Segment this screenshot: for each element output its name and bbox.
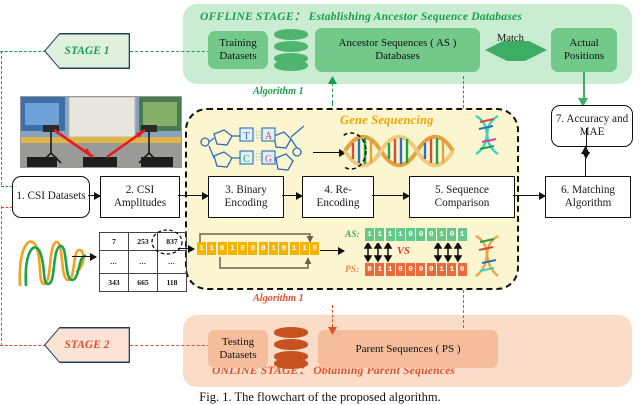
bit-cell: 0 [365, 263, 374, 276]
step-box-accuracy-mae[interactable]: 7. Accuracy and MAE [551, 105, 633, 147]
algorithm1-dash-up [332, 83, 333, 103]
figure-caption: Fig. 1. The flowchart of the proposed al… [0, 390, 640, 405]
match-double-arrow-icon [482, 41, 550, 61]
arrow-table-to-binary [178, 248, 194, 249]
stage2-dash-up [1, 206, 2, 346]
bit-cell: 0 [447, 228, 456, 241]
step-box-matching-algorithm[interactable]: 6. Matching Algorithm [545, 176, 631, 218]
parent-dash-down [332, 305, 333, 327]
parent-sequences-arrow-down-icon [328, 325, 338, 335]
dna-base-pair-diagram: T A C G [196, 122, 311, 174]
training-datasets-box[interactable]: Training Datasets [208, 31, 268, 69]
bit-cell: 1 [458, 228, 467, 241]
bit-cell: 0 [406, 263, 415, 276]
step-box-re-encoding[interactable]: 4. Re-Encoding [302, 176, 374, 218]
stage-2-tag[interactable]: STAGE 2 [44, 327, 130, 363]
bit-cell: 0 [406, 228, 415, 241]
stage-2-tag-label: STAGE 2 [44, 327, 130, 363]
algorithm1-arrow-up-icon [328, 76, 338, 86]
step-box-csi-amplitudes[interactable]: 2. CSI Amplitudes [100, 176, 180, 218]
reencoding-bracket-icons [196, 228, 316, 274]
step-box-sequence-comparison[interactable]: 5. Sequence Comparison [409, 176, 515, 218]
svg-text:T: T [243, 131, 249, 142]
arrow-b2-b3 [178, 195, 208, 196]
table-cell: 343 [100, 274, 129, 292]
table-cell: … [100, 251, 129, 274]
arrow-b4-b5 [372, 195, 409, 196]
actual-positions-box[interactable]: Actual Positions [551, 28, 617, 72]
stage-1-tag-label: STAGE 1 [44, 33, 130, 69]
algorithm-1-label-offline: Algorithm 1 [253, 86, 304, 97]
as-label: AS: [345, 230, 360, 240]
bit-cell: 1 [447, 263, 456, 276]
bit-cell: 1 [386, 263, 395, 276]
bit-cell: 1 [375, 228, 384, 241]
ps-sequence-strip: 0 1 1 0 0 0 0 1 1 0 [365, 263, 467, 276]
dna-strand-icon-top [468, 112, 510, 168]
step-box-csi-datasets[interactable]: 1. CSI Datasets [12, 176, 90, 218]
table-row: 343 665 118 [100, 274, 187, 292]
highlight-circle-icon [150, 228, 184, 256]
database-cylinder-icon [274, 327, 308, 369]
bit-cell: 0 [458, 263, 467, 276]
bit-cell: 1 [386, 228, 395, 241]
stage2-dash-right [130, 345, 210, 346]
bit-cell: 0 [416, 228, 425, 241]
database-cylinder-icon [274, 29, 308, 71]
csi-amplitude-waveform [14, 228, 90, 290]
svg-text:G: G [265, 154, 272, 165]
stage-1-tag[interactable]: STAGE 1 [44, 33, 130, 69]
table-cell: 665 [129, 274, 158, 292]
svg-text:C: C [243, 154, 250, 165]
ancestor-sequences-db-box[interactable]: Ancestor Sequences ( AS ) Databases [315, 28, 480, 72]
table-cell: 7 [100, 233, 129, 251]
bit-cell: 0 [396, 263, 405, 276]
offline-stage-title: OFFLINE STAGE： Establishing Ancestor Seq… [200, 8, 522, 24]
table-cell: 118 [158, 274, 187, 292]
stage2-dash-left [0, 345, 46, 346]
stage1-dash-down [1, 51, 2, 185]
arrow-to-comparison [320, 250, 344, 251]
bit-cell: 1 [396, 228, 405, 241]
dna-double-helix-icon [343, 130, 458, 172]
arrow-b6-b7-head-icon [581, 146, 591, 156]
parent-sequences-box[interactable]: Parent Sequences ( PS ) [318, 330, 498, 368]
as-sequence-strip: 1 1 1 1 0 0 0 1 0 1 [365, 228, 467, 241]
stage1-dash-left [0, 51, 46, 52]
bit-cell: 1 [375, 263, 384, 276]
ancestor-db-dash-down [463, 76, 464, 108]
arrow-b5-b6 [513, 195, 545, 196]
arrow-b1-b2 [88, 195, 100, 196]
algorithm-1-label-online: Algorithm 1 [253, 293, 304, 304]
experiment-room-photo [20, 96, 182, 168]
ps-dash-up-upper [463, 290, 464, 328]
step-box-binary-encoding[interactable]: 3. Binary Encoding [208, 176, 284, 218]
dna-strand-icon-bottom [468, 232, 510, 286]
stage1-dash-right [130, 51, 210, 52]
bit-cell: 1 [437, 263, 446, 276]
bit-cell: 0 [427, 263, 436, 276]
bit-cell: 0 [416, 263, 425, 276]
gene-sequencing-title: Gene Sequencing [340, 113, 434, 128]
ps-label: PS: [345, 265, 359, 275]
arrow-waveform-to-table [72, 256, 96, 257]
testing-datasets-box[interactable]: Testing Datasets [208, 330, 268, 368]
bit-cell: 1 [437, 228, 446, 241]
arrow-basepair-to-helix [313, 152, 345, 153]
comparison-double-arrows-icon [364, 243, 470, 263]
bit-cell: 0 [427, 228, 436, 241]
svg-text:A: A [265, 131, 273, 142]
arrow-b3-b4 [282, 195, 302, 196]
bit-cell: 1 [365, 228, 374, 241]
